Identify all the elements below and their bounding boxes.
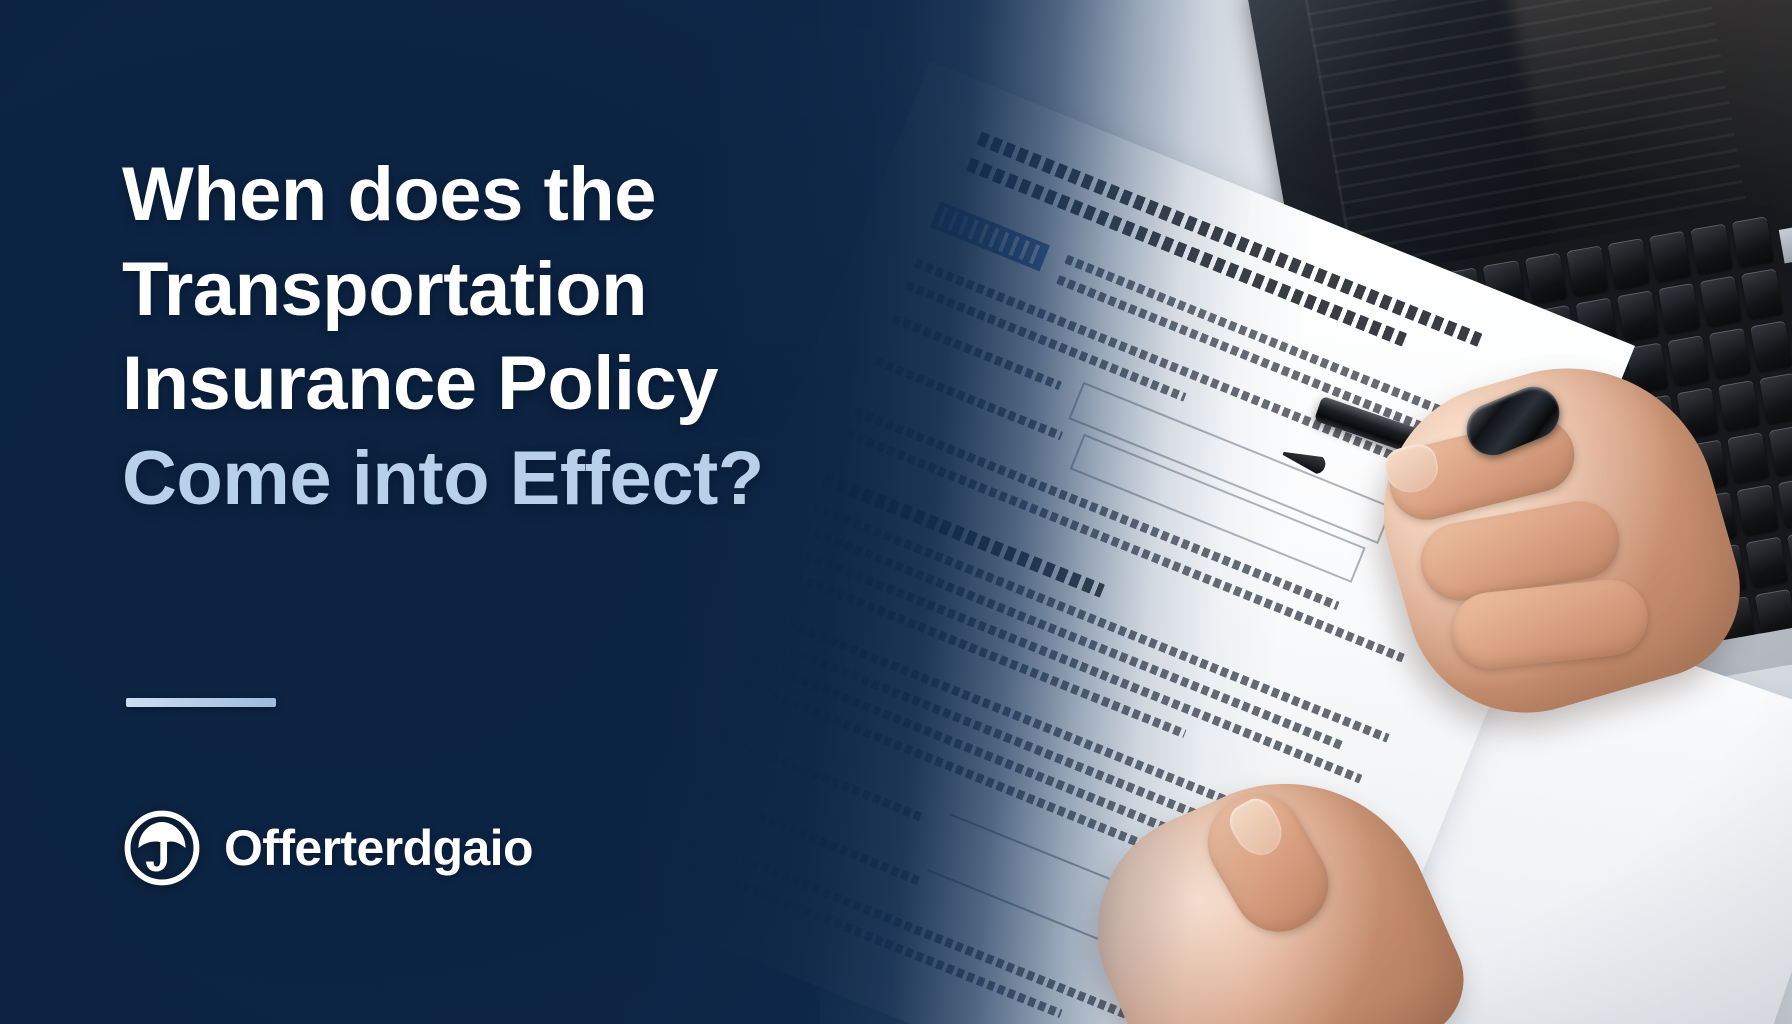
page-title: When does the Transportation Insurance P… [122,148,912,526]
headline-line-3: Insurance Policy [122,341,718,426]
umbrella-in-circle-icon [120,806,204,890]
headline-line-2: Transportation [122,247,647,332]
banner-root: When does the Transportation Insurance P… [0,0,1792,1024]
headline-line-1: When does the [122,152,656,237]
brand-name: Offerterdgaio [224,823,533,873]
divider-rule [126,698,276,707]
brand-logo[interactable]: Offerterdgaio [120,806,533,890]
text-content: When does the Transportation Insurance P… [120,0,920,1024]
headline-accent-line: Come into Effect? [122,436,764,521]
